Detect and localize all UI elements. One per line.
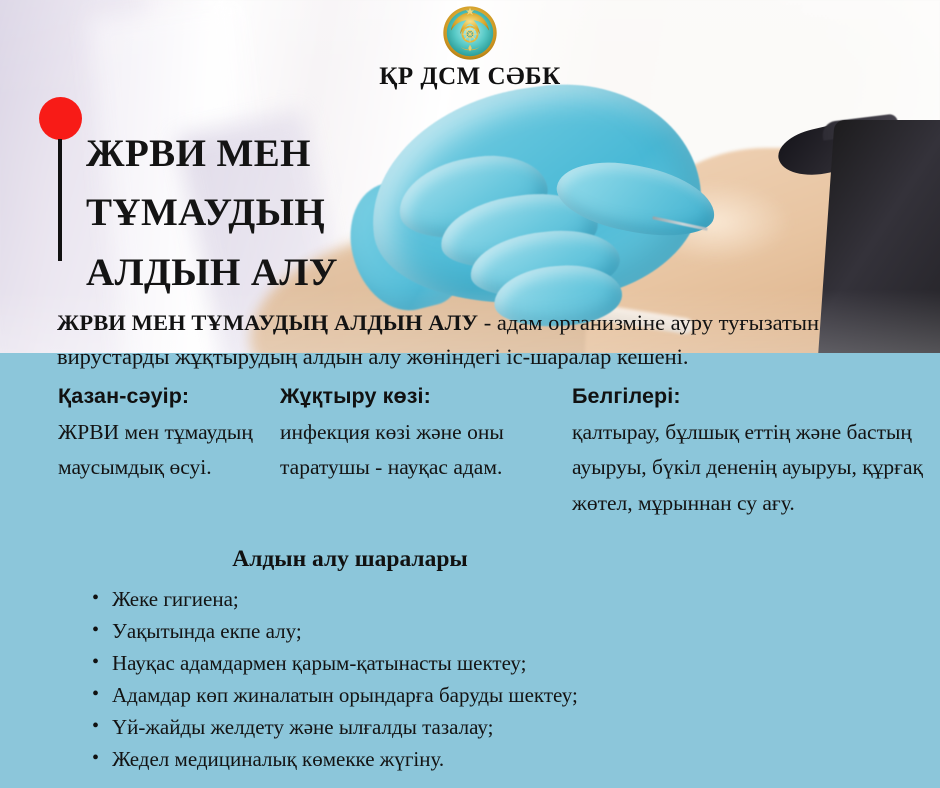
column-symptoms-body: қалтырау, бұлшық еттің және бастың ауыру… [572,415,940,521]
definition-paragraph: ЖРВИ МЕН ТҰМАУДЫҢ АЛДЫН АЛУ - адам орган… [57,306,857,374]
measures-list: Жеке гигиена; Уақытында екпе алу; Науқас… [70,584,872,775]
column-season-body: ЖРВИ мен тұмаудың маусымдық өсуі. [58,415,270,486]
info-columns: Қазан-сәуір: ЖРВИ мен тұмаудың маусымдық… [0,384,940,521]
organization-name: ҚР ДСМ СӘБК [0,63,940,91]
definition-separator: - [478,310,497,335]
column-symptoms-heading: Белгілері: [572,384,940,409]
red-dot-icon [39,97,82,140]
column-infection-source: Жұқтыру көзі: инфекция көзі және оны тар… [270,384,550,521]
page-title: ЖРВИ МЕН ТҰМАУДЫҢ АЛДЫН АЛУ [86,124,416,302]
list-item: Науқас адамдармен қарым-қатынасты шектеу… [92,648,872,680]
emblem-container [0,4,940,62]
title-marker [39,97,82,140]
column-season-heading: Қазан-сәуір: [58,384,270,409]
column-infection-source-body: инфекция көзі және оны таратушы - науқас… [280,415,550,486]
column-season: Қазан-сәуір: ЖРВИ мен тұмаудың маусымдық… [0,384,270,521]
poster: ҚР ДСМ СӘБК ЖРВИ МЕН ТҰМАУДЫҢ АЛДЫН АЛУ … [0,0,940,788]
list-item: Жеке гигиена; [92,584,872,616]
list-item: Уақытында екпе алу; [92,616,872,648]
column-infection-source-heading: Жұқтыру көзі: [280,384,550,409]
measures-heading: Алдын алу шаралары [0,546,700,573]
list-item: Адамдар көп жиналатын орындарға баруды ш… [92,680,872,712]
title-vertical-rule [58,139,62,261]
column-symptoms: Белгілері: қалтырау, бұлшық еттің және б… [550,384,940,521]
definition-term: ЖРВИ МЕН ТҰМАУДЫҢ АЛДЫН АЛУ [57,310,478,335]
list-item: Жедел медициналық көмекке жүгіну. [92,744,872,776]
kazakhstan-state-emblem-icon [441,4,499,62]
list-item: Үй-жайды желдету және ылғалды тазалау; [92,712,872,744]
